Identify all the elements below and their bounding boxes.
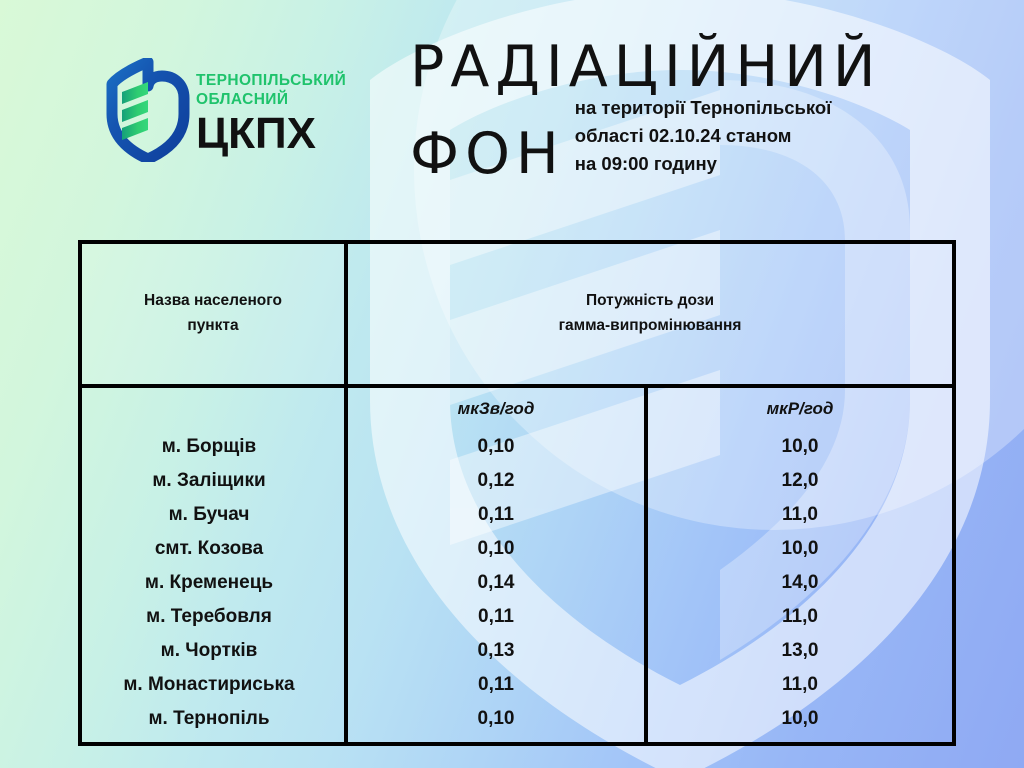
table-row: м. Заліщики [82, 464, 344, 498]
column-usv-values: мкЗв/год 0,10 0,12 0,11 0,10 0,14 0,11 0… [348, 388, 648, 742]
table-cell-ur: 13,0 [648, 634, 952, 668]
table-row: м. Борщів [82, 430, 344, 464]
column-header-settlement-line1: Назва населеного [144, 289, 282, 314]
page-title: РАДІАЦІЙНИЙ ФОН на території Тернопільсь… [410, 40, 1010, 181]
subtitle: на території Тернопільської області 02.1… [575, 94, 832, 181]
table-header-row: Назва населеного пункта Потужність дози … [82, 244, 952, 388]
table-cell-usv: 0,11 [348, 668, 644, 702]
table-cell-ur: 12,0 [648, 464, 952, 498]
column-header-dose-line2: гамма-випромінювання [559, 314, 742, 339]
table-cell-usv: 0,14 [348, 566, 644, 600]
title-row-2: ФОН на території Тернопільської області … [410, 94, 1010, 181]
logo-line-1: ТЕРНОПІЛЬСЬКИЙ [196, 72, 346, 91]
table-cell-ur: 10,0 [648, 702, 952, 736]
column-header-dose-line1: Потужність дози [559, 289, 742, 314]
table-cell-ur: 10,0 [648, 532, 952, 566]
table-cell-ur: 11,0 [648, 668, 952, 702]
poster-canvas: ТЕРНОПІЛЬСЬКИЙ ОБЛАСНИЙ ЦКПХ РАДІАЦІЙНИЙ… [0, 0, 1024, 768]
table-row: смт. Козова [82, 532, 344, 566]
column-header-settlement-line2: пункта [144, 314, 282, 339]
table-cell-usv: 0,10 [348, 532, 644, 566]
table-cell-usv: 0,11 [348, 498, 644, 532]
title-line-1: РАДІАЦІЙНИЙ [410, 40, 1010, 94]
radiation-table: Назва населеного пункта Потужність дози … [78, 240, 956, 746]
subtitle-line-2: області 02.10.24 станом [575, 122, 832, 150]
table-cell-usv: 0,10 [348, 430, 644, 464]
table-cell-ur: 11,0 [648, 600, 952, 634]
table-cell-ur: 11,0 [648, 498, 952, 532]
table-cell-ur: 14,0 [648, 566, 952, 600]
table-cell-ur: 10,0 [648, 430, 952, 464]
column-header-settlement: Назва населеного пункта [82, 244, 348, 384]
table-body: м. Борщів м. Заліщики м. Бучач смт. Козо… [82, 388, 952, 742]
table-row: м. Бучач [82, 498, 344, 532]
table-row: м. Кременець [82, 566, 344, 600]
column-ur-values: мкР/год 10,0 12,0 11,0 10,0 14,0 11,0 13… [648, 388, 952, 742]
table-cell-usv: 0,12 [348, 464, 644, 498]
unit-label-ur: мкР/год [648, 388, 952, 430]
shield-logo-icon [106, 58, 190, 162]
logo-abbreviation: ЦКПХ [196, 112, 346, 156]
column-header-dose: Потужність дози гамма-випромінювання [348, 244, 952, 384]
table-row: м. Монастириська [82, 668, 344, 702]
table-row: м. Теребовля [82, 600, 344, 634]
subtitle-line-3: на 09:00 годину [575, 150, 832, 178]
unit-label-usv: мкЗв/год [348, 388, 644, 430]
logo-line-2: ОБЛАСНИЙ [196, 91, 346, 110]
table-cell-usv: 0,13 [348, 634, 644, 668]
logo-wordmark: ТЕРНОПІЛЬСЬКИЙ ОБЛАСНИЙ ЦКПХ [196, 58, 346, 156]
table-row: м. Тернопіль [82, 702, 344, 736]
organization-logo: ТЕРНОПІЛЬСЬКИЙ ОБЛАСНИЙ ЦКПХ [106, 58, 346, 162]
title-line-2: ФОН [410, 127, 565, 181]
table-row: м. Чортків [82, 634, 344, 668]
table-cell-usv: 0,10 [348, 702, 644, 736]
subtitle-line-1: на території Тернопільської [575, 94, 832, 122]
column-settlement-names: м. Борщів м. Заліщики м. Бучач смт. Козо… [82, 388, 348, 742]
table-cell-usv: 0,11 [348, 600, 644, 634]
